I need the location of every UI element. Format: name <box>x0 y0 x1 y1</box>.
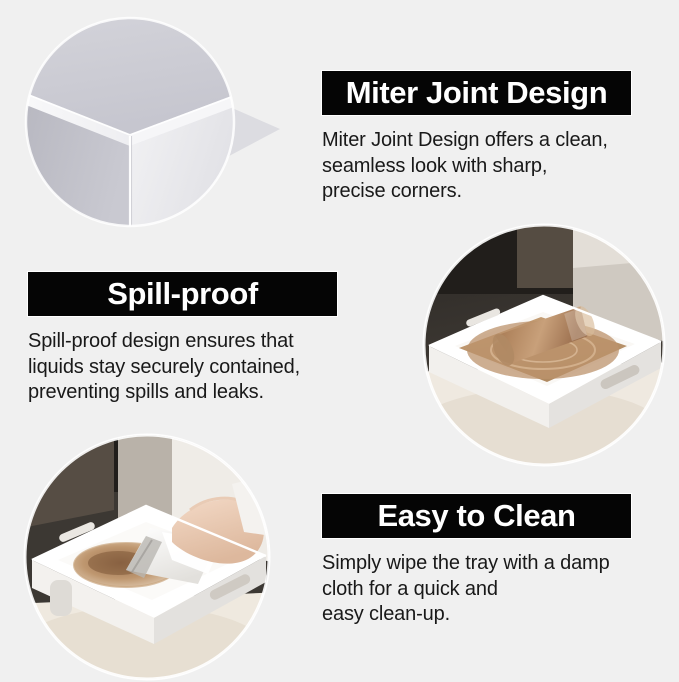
spill-scene <box>421 222 667 468</box>
easy-to-clean-tray-image <box>22 432 272 682</box>
feature-body-spill: Spill-proof design ensures that liquids … <box>28 329 358 406</box>
feature-title-clean: Easy to Clean <box>321 493 632 539</box>
feature-body-clean: Simply wipe the tray with a damp cloth f… <box>322 551 674 628</box>
tray-handle-cutout <box>50 580 72 616</box>
feature-title-miter: Miter Joint Design <box>321 70 632 116</box>
cleaning-scene <box>22 432 272 682</box>
infographic-canvas: Miter Joint Design Miter Joint Design of… <box>0 0 679 679</box>
feature-body-miter: Miter Joint Design offers a clean, seaml… <box>322 128 674 205</box>
feature-title-spill: Spill-proof <box>27 271 338 317</box>
miter-joint-corner-closeup-image <box>18 16 300 228</box>
spill-proof-tray-image <box>421 222 667 468</box>
